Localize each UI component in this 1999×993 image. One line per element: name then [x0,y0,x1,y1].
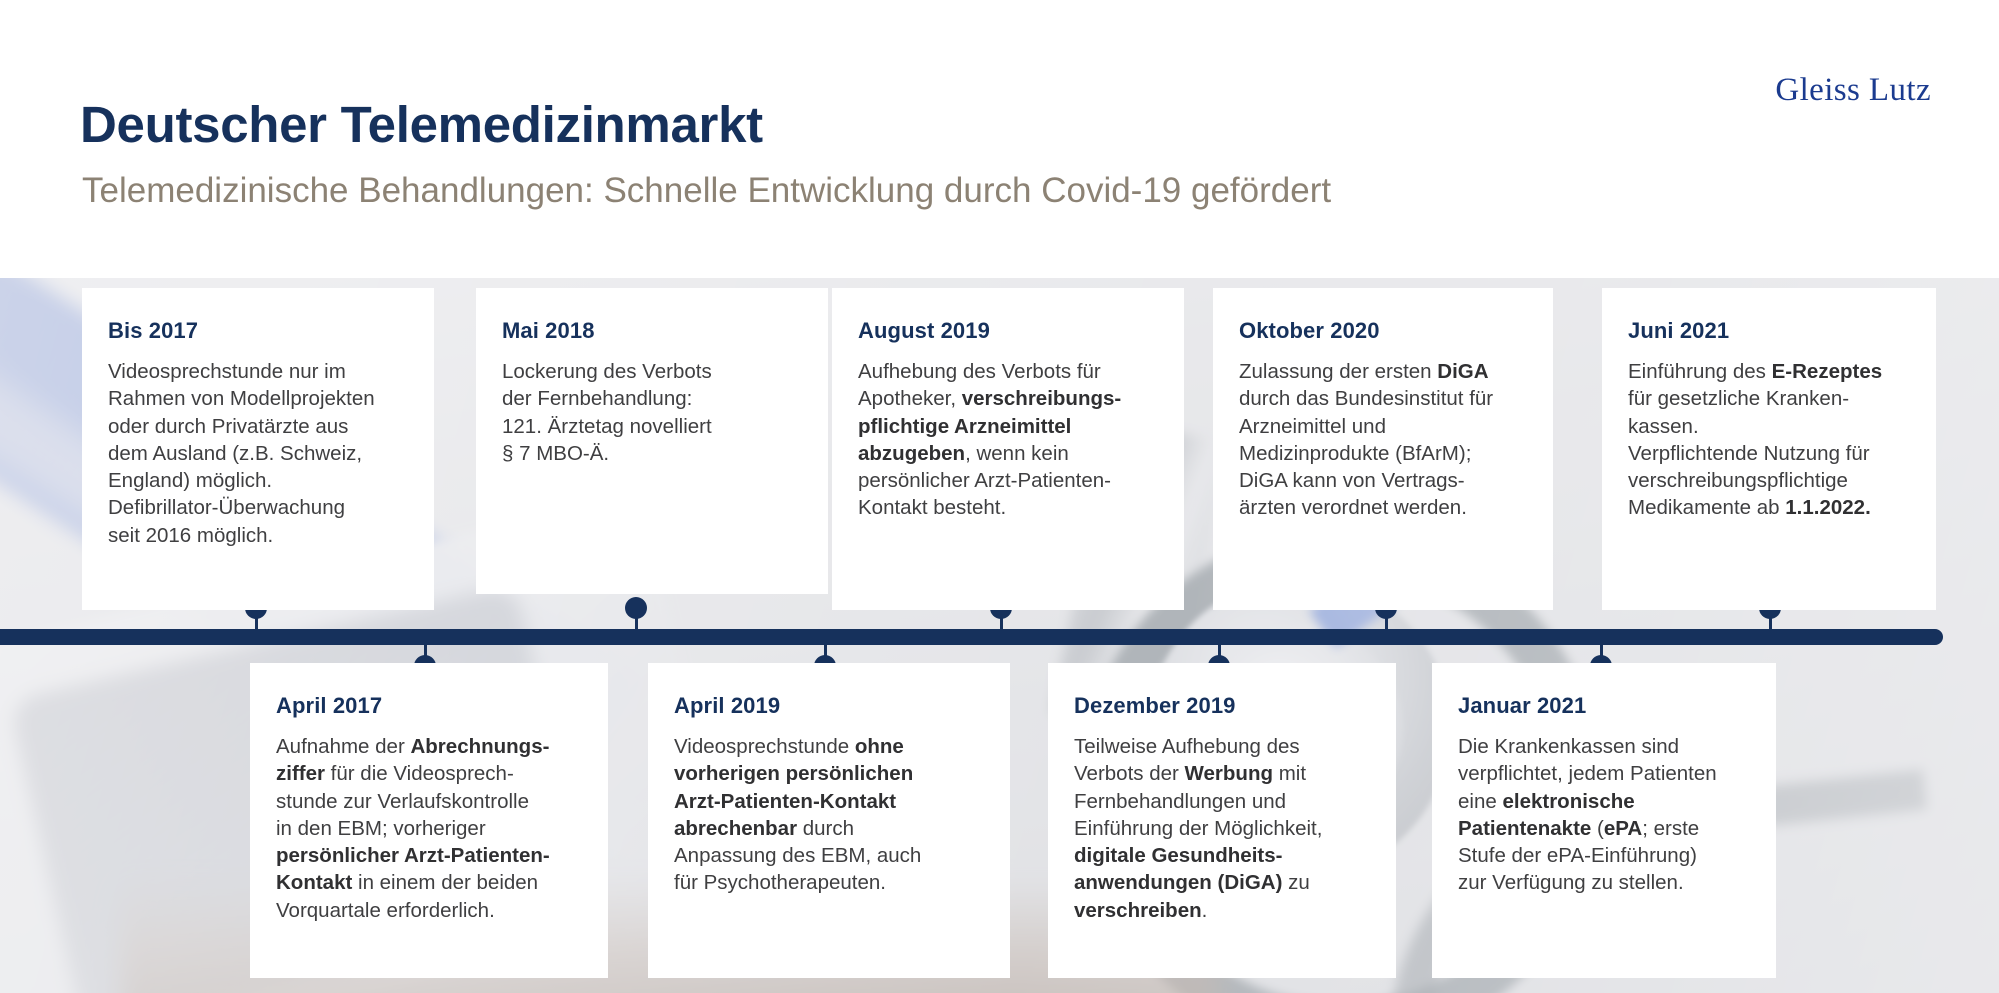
card-body: Einführung des E-Rezeptesfür gesetzliche… [1628,358,1910,522]
card-date: April 2019 [674,693,984,719]
timeline-card-top-1[interactable]: Bis 2017 Videosprechstunde nur imRahmen … [82,288,434,610]
timeline-card-bottom-4[interactable]: Januar 2021 Die Krankenkassen sindverpfl… [1432,663,1776,978]
slide-header: Deutscher Telemedizinmarkt Telemedizinis… [0,0,1999,278]
timeline-card-bottom-2[interactable]: April 2019 Videosprechstunde ohnevorheri… [648,663,1010,978]
card-date: Oktober 2020 [1239,318,1527,344]
timeline-card-bottom-1[interactable]: April 2017 Aufnahme der Abrechnungs-ziff… [250,663,608,978]
card-date: Bis 2017 [108,318,408,344]
page-title: Deutscher Telemedizinmarkt [80,95,763,154]
card-body: Lockerung des Verbotsder Fernbehandlung:… [502,358,802,467]
timeline-card-top-4[interactable]: Oktober 2020 Zulassung der ersten DiGAdu… [1213,288,1553,610]
card-body: Zulassung der ersten DiGAdurch das Bunde… [1239,358,1527,522]
card-date: April 2017 [276,693,582,719]
card-body: Aufhebung des Verbots fürApotheker, vers… [858,358,1158,522]
card-body: Die Krankenkassen sindverpflichtet, jede… [1458,733,1750,897]
page-subtitle: Telemedizinische Behandlungen: Schnelle … [82,171,1331,211]
gleiss-lutz-logo: Gleiss Lutz [1775,72,1931,109]
timeline-card-top-3[interactable]: August 2019 Aufhebung des Verbots fürApo… [832,288,1184,610]
card-body: Aufnahme der Abrechnungs-ziffer für die … [276,733,582,924]
timeline-card-top-5[interactable]: Juni 2021 Einführung des E-Rezeptesfür g… [1602,288,1936,610]
card-date: August 2019 [858,318,1158,344]
card-date: Januar 2021 [1458,693,1750,719]
card-body: Videosprechstunde nur imRahmen von Model… [108,358,408,549]
timeline-card-bottom-3[interactable]: Dezember 2019 Teilweise Aufhebung desVer… [1048,663,1396,978]
card-body: Videosprechstunde ohnevorherigen persönl… [674,733,984,897]
card-date: Juni 2021 [1628,318,1910,344]
card-date: Mai 2018 [502,318,802,344]
card-body: Teilweise Aufhebung desVerbots der Werbu… [1074,733,1370,924]
timeline-axis [0,629,1943,645]
slide-canvas: Deutscher Telemedizinmarkt Telemedizinis… [0,0,1999,993]
timeline-dot-top-2[interactable] [625,597,647,619]
timeline-card-top-2[interactable]: Mai 2018 Lockerung des Verbotsder Fernbe… [476,288,828,594]
card-date: Dezember 2019 [1074,693,1370,719]
